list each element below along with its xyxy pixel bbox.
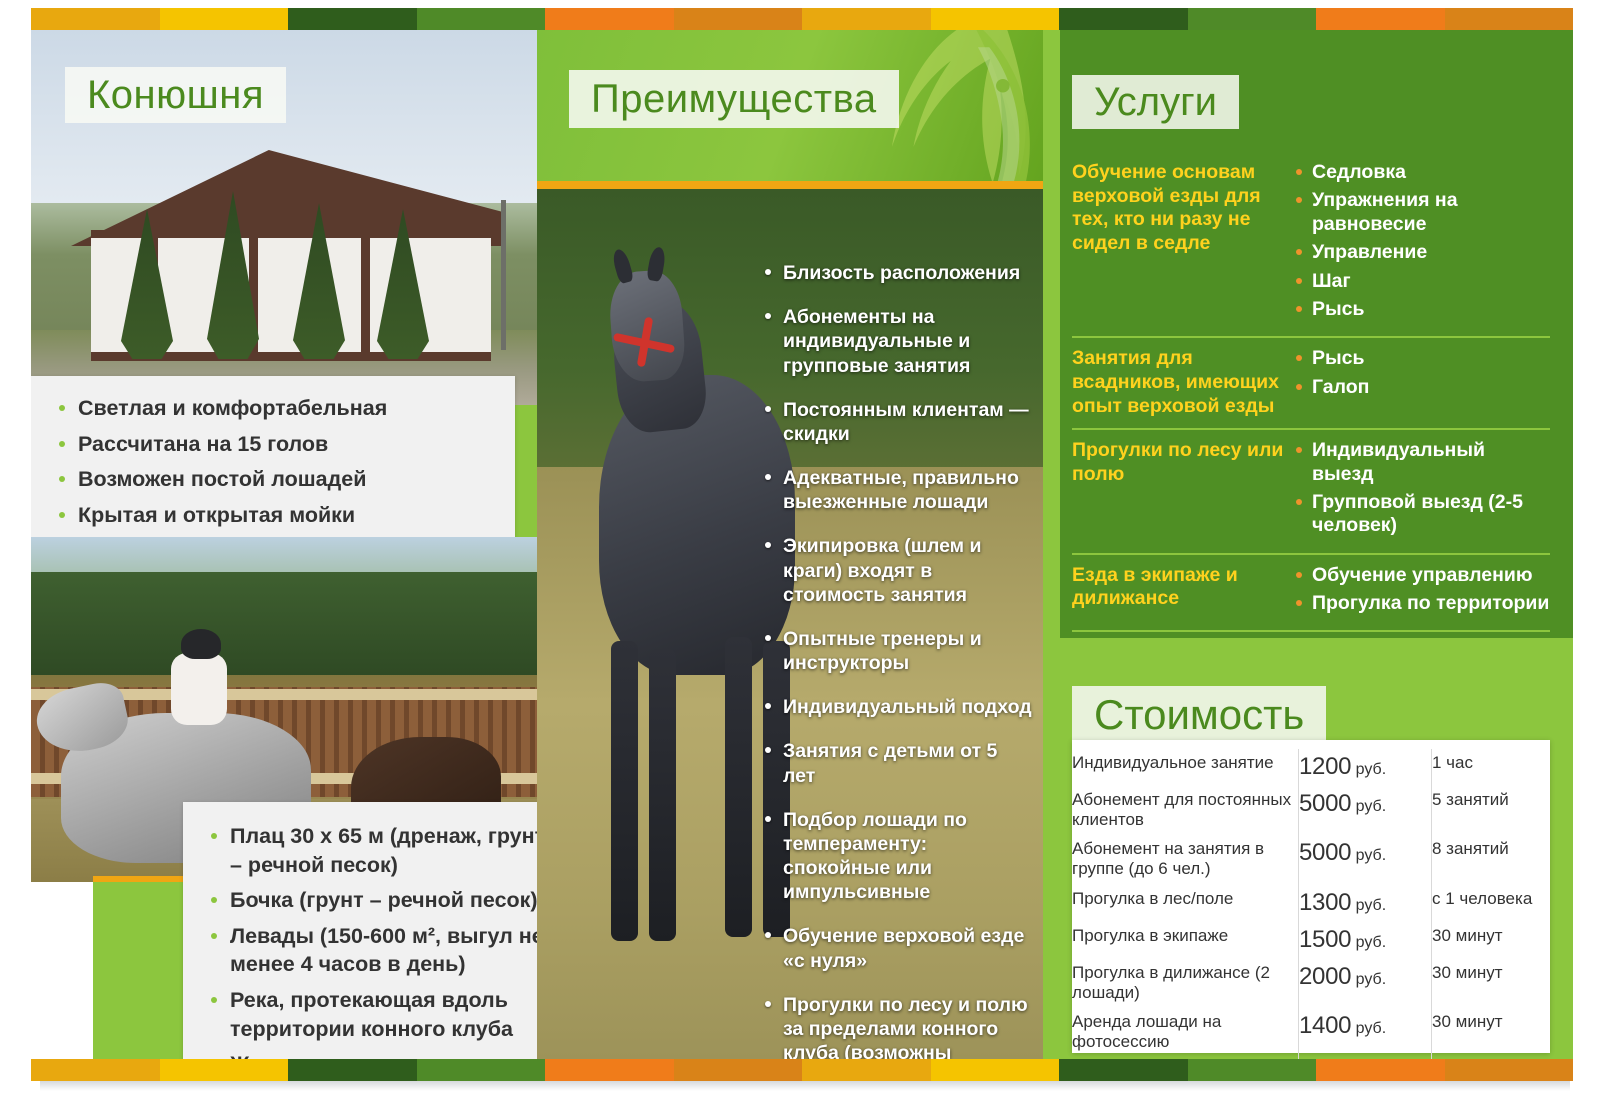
column-advantages: Преимущества Близость расположенияАбонем… (537, 30, 1043, 1059)
page-title-services: Услуги (1072, 80, 1239, 125)
service-item: Обучение управлению (1294, 564, 1550, 587)
price-amount-cell: 1200 руб. (1299, 749, 1432, 786)
column-services-price: Услуги Обучение основам верховой езды дл… (1043, 30, 1573, 1059)
list-item: Экипировка (шлем и краги) входят в стоим… (762, 534, 1034, 607)
stripe-segment (931, 1059, 1060, 1081)
service-item: Прогулка по территории (1294, 592, 1550, 615)
price-row: Абонемент для постоянных клиентов5000 ру… (1072, 786, 1550, 835)
list-item: Прогулки по лесу и полю за пределами кон… (762, 993, 1034, 1059)
price-card: Индивидуальное занятие1200 руб.1 часАбон… (1072, 740, 1550, 1053)
advantages-title-chip: Преимущества (569, 70, 899, 128)
list-item: Светлая и комфортабельная (55, 394, 495, 423)
stripe-segment (802, 1059, 931, 1081)
price-amount-cell: 5000 руб. (1299, 835, 1432, 884)
stripe-segment (417, 1059, 546, 1081)
stable-grounds-list: Плац 30 x 65 м (дренаж, грунт – речной п… (207, 822, 537, 1059)
list-item: Близость расположения (762, 261, 1034, 285)
page-title-advantages: Преимущества (569, 77, 899, 122)
stripe-segment (1188, 1059, 1317, 1081)
price-row: Аренда лошади на фотосессию1400 руб.30 м… (1072, 1008, 1550, 1057)
stripe-segment (1059, 8, 1188, 30)
brochure-page: Конюшня Светлая и комфортабельнаяРассчит… (0, 0, 1603, 1106)
stable-title-chip: Конюшня (65, 67, 286, 123)
service-category: Обучение основам верховой езды для тех, … (1072, 161, 1294, 326)
list-item: Плац 30 x 65 м (дренаж, грунт – речной п… (207, 822, 537, 879)
horse-leg (649, 649, 676, 941)
service-item: Шаг (1294, 270, 1550, 293)
service-item: Рысь (1294, 347, 1550, 370)
stripe-segment (31, 8, 160, 30)
service-item: Упражнения на равновесие (1294, 189, 1550, 236)
price-currency: руб. (1351, 847, 1386, 864)
services-title-chip: Услуги (1072, 75, 1239, 129)
stripe-segment (1316, 8, 1445, 30)
service-item: Седловка (1294, 161, 1550, 184)
stripe-segment (288, 1059, 417, 1081)
price-service-name: Прогулка в лес/поле (1072, 885, 1299, 922)
list-item: Бочка (грунт – речной песок) (207, 886, 537, 915)
price-amount: 5000 (1299, 790, 1351, 817)
service-row: Езда в экипаже и дилижансеОбучение управ… (1072, 555, 1550, 633)
price-amount: 2000 (1299, 963, 1351, 990)
service-row: Прогулки по лесу или полюИндивидуальный … (1072, 430, 1550, 555)
stripe-segment (160, 8, 289, 30)
list-item: Обучение верховой езде «с нуля» (762, 924, 1034, 972)
price-unit: 30 минут (1432, 1008, 1551, 1057)
service-items: РысьГалоп (1294, 347, 1550, 418)
advantages-list: Близость расположенияАбонементы на индив… (762, 261, 1034, 1059)
service-item: Индивидуальный выезд (1294, 439, 1550, 486)
service-item: Управление (1294, 241, 1550, 264)
accent-strip (1043, 30, 1060, 638)
column-stable: Конюшня Светлая и комфортабельнаяРассчит… (31, 30, 537, 1059)
price-amount: 1300 (1299, 889, 1351, 916)
horse-leg (725, 637, 752, 937)
price-amount-cell: 2000 руб. (1299, 959, 1432, 1008)
price-amount: 1200 (1299, 753, 1351, 780)
stripe-segment (31, 1059, 160, 1081)
rider-helmet (181, 629, 221, 659)
price-row: Индивидуальное занятие1200 руб.1 час (1072, 749, 1550, 786)
list-item: Возможен постой лошадей (55, 465, 495, 494)
price-service-name: Прогулка в дилижансе (2 лошади) (1072, 959, 1299, 1008)
price-unit: 30 минут (1432, 959, 1551, 1008)
stripe-segment (931, 8, 1060, 30)
bottom-bar-shadow (40, 1081, 1570, 1091)
list-item: Крытая и открытая мойки (55, 501, 495, 530)
price-currency: руб. (1351, 971, 1386, 988)
list-item: Река, протекающая вдоль территории конно… (207, 986, 537, 1043)
list-item: Постоянным клиентам — скидки (762, 398, 1034, 446)
service-row: Занятия для всадников, имеющих опыт верх… (1072, 338, 1550, 430)
list-item: Опытные тренеры и инструкторы (762, 627, 1034, 675)
price-currency: руб. (1351, 1020, 1386, 1037)
service-row: Обучение основам верховой езды для тех, … (1072, 152, 1550, 338)
service-category: Езда в экипаже и дилижансе (1072, 564, 1294, 621)
stripe-segment (545, 1059, 674, 1081)
price-unit: 1 час (1432, 749, 1551, 786)
service-items: Обучение управлениюПрогулка по территори… (1294, 564, 1550, 621)
service-items: СедловкаУпражнения на равновесиеУправлен… (1294, 161, 1550, 326)
price-row: Прогулка в экипаже1500 руб.30 минут (1072, 922, 1550, 959)
advantages-photo: Близость расположенияАбонементы на индив… (537, 189, 1043, 1059)
price-unit: 5 занятий (1432, 786, 1551, 835)
stripe-segment (545, 8, 674, 30)
bottom-stripe-bar (31, 1059, 1573, 1081)
stripe-segment (1316, 1059, 1445, 1081)
stripe-segment (1059, 1059, 1188, 1081)
stripe-segment (1445, 1059, 1574, 1081)
lamp-post (501, 200, 506, 350)
price-amount-cell: 1300 руб. (1299, 885, 1432, 922)
page-title-price: Стоимость (1072, 691, 1326, 739)
tree-line (31, 572, 537, 676)
price-title-chip: Стоимость (1072, 686, 1326, 744)
price-service-name: Индивидуальное занятие (1072, 749, 1299, 786)
service-category: Занятия для всадников, имеющих опыт верх… (1072, 347, 1294, 418)
service-item: Групповой выезд (2-5 человек) (1294, 491, 1550, 538)
top-stripe-bar (31, 8, 1573, 30)
list-item: Адекватные, правильно выезженные лошади (762, 466, 1034, 514)
list-item: Рассчитана на 15 голов (55, 430, 495, 459)
brochure-sheet: Конюшня Светлая и комфортабельнаяРассчит… (31, 30, 1573, 1059)
price-service-name: Аренда лошади на фотосессию (1072, 1008, 1299, 1057)
list-item: Левады (150-600 м², выгул не менее 4 час… (207, 922, 537, 979)
stripe-segment (288, 8, 417, 30)
price-service-name: Абонемент для постоянных клиентов (1072, 786, 1299, 835)
page-title-stable: Конюшня (65, 73, 286, 118)
price-service-name: Прогулка в экипаже (1072, 922, 1299, 959)
price-table: Индивидуальное занятие1200 руб.1 часАбон… (1072, 749, 1550, 1059)
service-items: Индивидуальный выездГрупповой выезд (2-5… (1294, 439, 1550, 543)
price-currency: руб. (1351, 798, 1386, 815)
gold-divider (537, 181, 1043, 189)
stripe-segment (160, 1059, 289, 1081)
price-unit: 30 минут (1432, 922, 1551, 959)
price-currency: руб. (1351, 897, 1386, 914)
service-item: Галоп (1294, 376, 1550, 399)
price-row: Прогулка в лес/поле1300 руб.с 1 человека (1072, 885, 1550, 922)
service-category: Прогулки по лесу или полю (1072, 439, 1294, 543)
price-amount: 1400 (1299, 1012, 1351, 1039)
beam (361, 230, 370, 360)
list-item: Занятия с детьми от 5 лет (762, 739, 1034, 787)
price-unit: 8 занятий (1432, 835, 1551, 884)
price-unit: с 1 человека (1432, 885, 1551, 922)
stripe-segment (1445, 8, 1574, 30)
price-row: Абонемент на занятия в группе (до 6 чел.… (1072, 835, 1550, 884)
service-item: Рысь (1294, 298, 1550, 321)
list-item: Подбор лошади по темпераменту: спокойные… (762, 808, 1034, 905)
list-item: Живописные окрестности (207, 1050, 537, 1059)
list-item: Индивидуальный подход (762, 695, 1034, 719)
stripe-segment (802, 8, 931, 30)
stripe-segment (674, 8, 803, 30)
price-amount: 5000 (1299, 839, 1351, 866)
price-amount-cell: 5000 руб. (1299, 786, 1432, 835)
price-row: Прогулка в дилижансе (2 лошади)2000 руб.… (1072, 959, 1550, 1008)
horse-leg (611, 641, 638, 941)
price-service-name: Абонемент на занятия в группе (до 6 чел.… (1072, 835, 1299, 884)
price-currency: руб. (1351, 761, 1386, 778)
services-rows: Обучение основам верховой езды для тех, … (1072, 152, 1550, 718)
price-currency: руб. (1351, 934, 1386, 951)
stable-grounds-card: Плац 30 x 65 м (дренаж, грунт – речной п… (183, 802, 537, 1059)
price-amount: 1500 (1299, 926, 1351, 953)
stripe-segment (674, 1059, 803, 1081)
price-amount-cell: 1400 руб. (1299, 1008, 1432, 1057)
list-item: Абонементы на индивидуальные и групповые… (762, 305, 1034, 378)
stripe-segment (1188, 8, 1317, 30)
white-gutter (31, 882, 93, 1059)
rider (171, 653, 227, 725)
stripe-segment (417, 8, 546, 30)
advantages-list-wrap: Близость расположенияАбонементы на индив… (762, 261, 1034, 1059)
price-amount-cell: 1500 руб. (1299, 922, 1432, 959)
